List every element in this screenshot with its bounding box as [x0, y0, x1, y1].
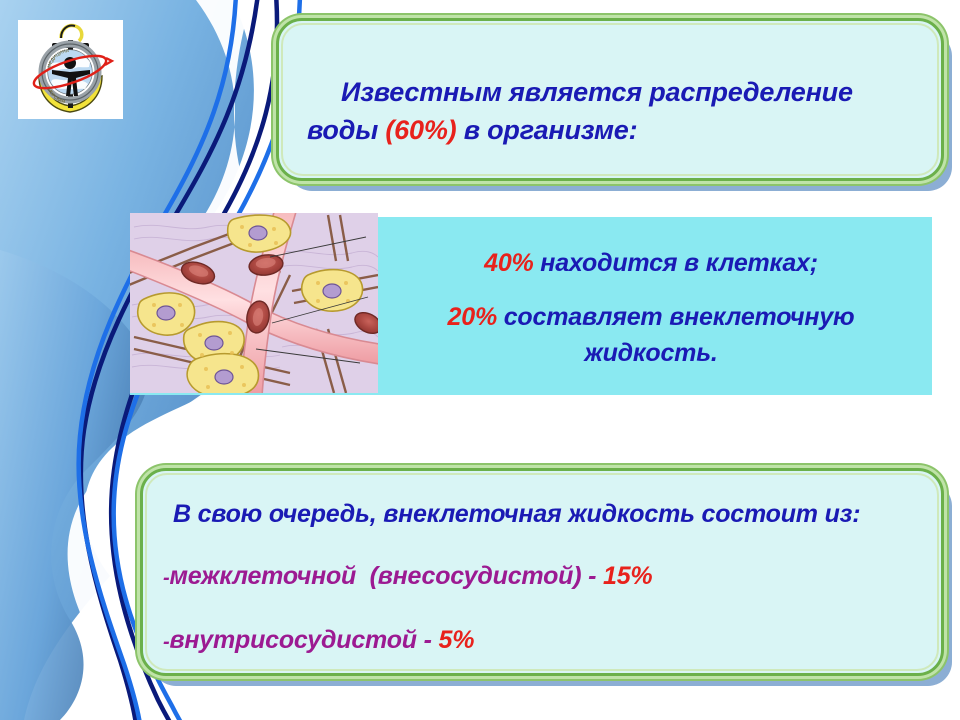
top-box-line2-after: в организме: — [456, 115, 637, 145]
slide: МЕДИЦИНА МОРСКАЯ Известным является расп… — [0, 0, 960, 720]
middle-text-extracellular: составляет внеклеточную — [497, 303, 854, 331]
institution-logo: МЕДИЦИНА МОРСКАЯ — [18, 20, 123, 119]
top-box-line2-before: воды — [307, 115, 385, 145]
top-box-percent: (60%) — [385, 115, 456, 145]
top-box-text: Известным является распределениеводы (60… — [307, 73, 917, 149]
middle-text-fluid: жидкость. — [584, 339, 717, 367]
bottom-list-item-2: -внутрисосудистой - 5% — [163, 623, 474, 659]
middle-line-gap — [386, 281, 916, 299]
bottom-box-heading: В свою очередь, внеклеточная жидкость со… — [173, 497, 860, 531]
middle-percent-20: 20% — [448, 303, 497, 331]
capillary-tissue-histology-image — [130, 213, 378, 393]
list-label-2: внутрисосудистой - — [169, 626, 438, 654]
bottom-list-item-1: -межклеточной (внесосудистой) - 15% — [163, 559, 652, 595]
bottom-statement-box: В свою очередь, внеклеточная жидкость со… — [140, 468, 944, 676]
list-label-1: межклеточной (внесосудистой) - — [169, 562, 603, 590]
list-value-1: 15% — [603, 562, 652, 590]
list-value-2: 5% — [438, 626, 474, 654]
top-box-line1: Известным является распределение — [341, 77, 853, 107]
middle-percent-40: 40% — [484, 249, 533, 277]
top-statement-box: Известным является распределениеводы (60… — [276, 18, 944, 181]
middle-text-cells: находится в клетках; — [534, 249, 818, 277]
middle-panel-text: 40% находится в клетках;20% составляет в… — [386, 245, 916, 371]
